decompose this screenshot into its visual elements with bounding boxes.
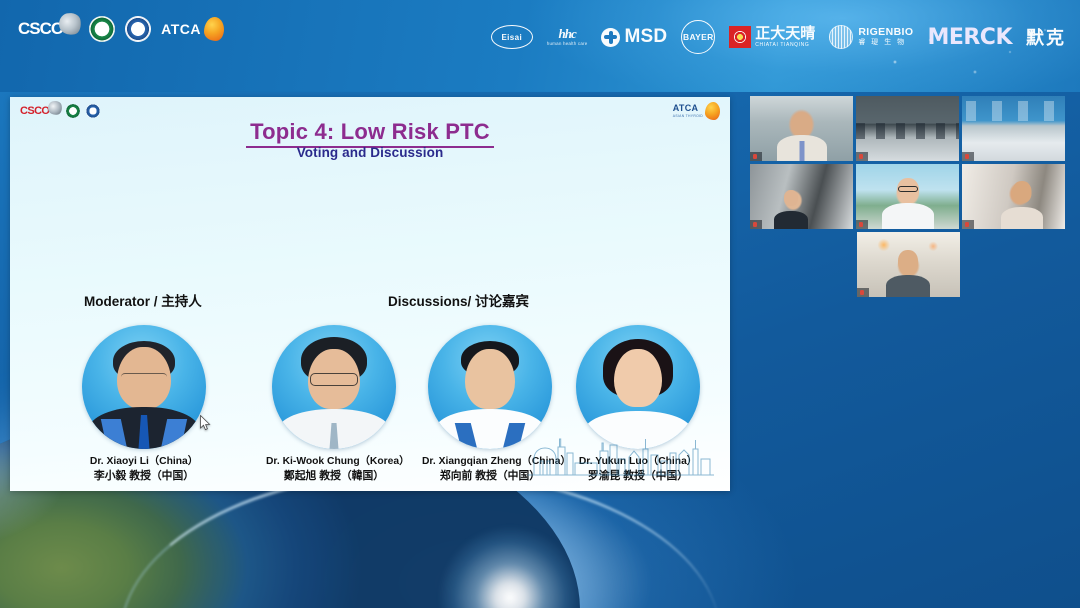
atca-logo: ATCA bbox=[161, 17, 224, 41]
webinar-screen: CSCO ATCA Eisai hhc human health care MS… bbox=[0, 0, 1080, 608]
video-tile-participant-5[interactable] bbox=[856, 164, 959, 229]
msd-logo: MSD bbox=[601, 26, 667, 48]
participant-name-tag bbox=[856, 152, 868, 161]
chiatai-logo-en: CHIATAI TIANQING bbox=[755, 43, 815, 48]
msd-cross-icon bbox=[601, 28, 620, 47]
speaker-name-cn: 李小毅 教授（中国） bbox=[76, 469, 212, 483]
speaker-name-en: Dr. Xiaoyi Li（China） bbox=[76, 456, 212, 469]
participant-name-tag bbox=[962, 152, 974, 161]
mouse-cursor bbox=[200, 415, 211, 431]
rigenbio-globe-icon bbox=[829, 25, 853, 49]
shared-slide[interactable]: CSCO ATCA ASIAN THYROID Topic 4: Low Ris… bbox=[10, 97, 730, 491]
hhc-logo-mark: hhc bbox=[559, 27, 576, 40]
video-tile-participant-2[interactable] bbox=[856, 96, 959, 161]
mic-muted-icon bbox=[965, 222, 969, 227]
video-feed bbox=[750, 164, 853, 229]
avatar bbox=[82, 325, 206, 449]
csco-logo: CSCO bbox=[18, 19, 79, 39]
sponsor-logo-group: Eisai hhc human health care MSD BAYER 正大… bbox=[491, 20, 1066, 54]
eisai-logo: Eisai bbox=[491, 25, 533, 49]
video-tile-participant-3[interactable] bbox=[962, 96, 1065, 161]
video-tile-participant-4[interactable] bbox=[750, 164, 853, 229]
avatar bbox=[272, 325, 396, 449]
atca-thyroid-icon bbox=[204, 17, 224, 41]
hhc-logo: hhc human health care bbox=[547, 27, 588, 47]
participant-name-tag bbox=[750, 152, 762, 161]
rigenbio-logo: RIGENBIO 睿 瑅 生 物 bbox=[829, 25, 913, 49]
speaker-card-discussant-1: Dr. Ki-Wook Chung（Korea） 鄭起旭 教授（韓国） bbox=[266, 325, 402, 483]
video-tile-participant-1[interactable] bbox=[750, 96, 853, 161]
video-tile-participant-7[interactable] bbox=[857, 232, 960, 297]
video-grid-row bbox=[750, 232, 1066, 297]
participant-name-tag bbox=[750, 220, 762, 229]
mic-muted-icon bbox=[859, 154, 863, 159]
video-feed bbox=[750, 96, 853, 161]
participant-name-tag bbox=[857, 288, 869, 297]
video-grid-row bbox=[750, 164, 1066, 229]
video-feed bbox=[856, 96, 959, 161]
city-skyline-icon bbox=[526, 425, 716, 477]
participant-name-tag bbox=[962, 220, 974, 229]
video-feed bbox=[857, 232, 960, 297]
video-tile-participant-6[interactable] bbox=[962, 164, 1065, 229]
participant-name-tag bbox=[856, 220, 868, 229]
mic-muted-icon bbox=[860, 290, 864, 295]
chiatai-logo-cn: 正大天晴 bbox=[755, 26, 815, 41]
atca-logo-text: ATCA bbox=[161, 21, 201, 37]
speaker-name-cn: 鄭起旭 教授（韓国） bbox=[266, 469, 402, 483]
msd-logo-text: MSD bbox=[624, 26, 667, 48]
speaker-name-en: Dr. Ki-Wook Chung（Korea） bbox=[266, 456, 402, 469]
mic-muted-icon bbox=[965, 154, 969, 159]
sponsor-header-bar: CSCO ATCA Eisai hhc human health care MS… bbox=[0, 0, 1080, 90]
sunrise-flare bbox=[300, 478, 720, 608]
hhc-logo-tagline: human health care bbox=[547, 42, 588, 47]
society-emblem-blue-icon bbox=[125, 16, 151, 42]
mic-muted-icon bbox=[859, 222, 863, 227]
video-feed bbox=[962, 164, 1065, 229]
society-emblem-green-icon bbox=[89, 16, 115, 42]
bayer-logo: BAYER bbox=[681, 20, 715, 54]
video-feed bbox=[856, 164, 959, 229]
participant-video-grid bbox=[750, 96, 1066, 300]
mic-muted-icon bbox=[753, 222, 757, 227]
rigenbio-logo-cn: 睿 瑅 生 物 bbox=[858, 39, 913, 47]
mic-muted-icon bbox=[753, 154, 757, 159]
speaker-card-moderator: Dr. Xiaoyi Li（China） 李小毅 教授（中国） bbox=[76, 325, 212, 483]
video-grid-row bbox=[750, 96, 1066, 161]
merck-logo: MERCK bbox=[927, 25, 1012, 50]
rigenbio-logo-en: RIGENBIO bbox=[858, 27, 913, 39]
organizer-logo-group: CSCO ATCA bbox=[18, 16, 224, 42]
chiatai-tianqing-logo: 正大天晴 CHIATAI TIANQING bbox=[729, 26, 815, 48]
chiatai-mark-icon bbox=[729, 26, 751, 48]
video-feed bbox=[962, 96, 1065, 161]
moke-logo: 默克 bbox=[1026, 24, 1066, 50]
